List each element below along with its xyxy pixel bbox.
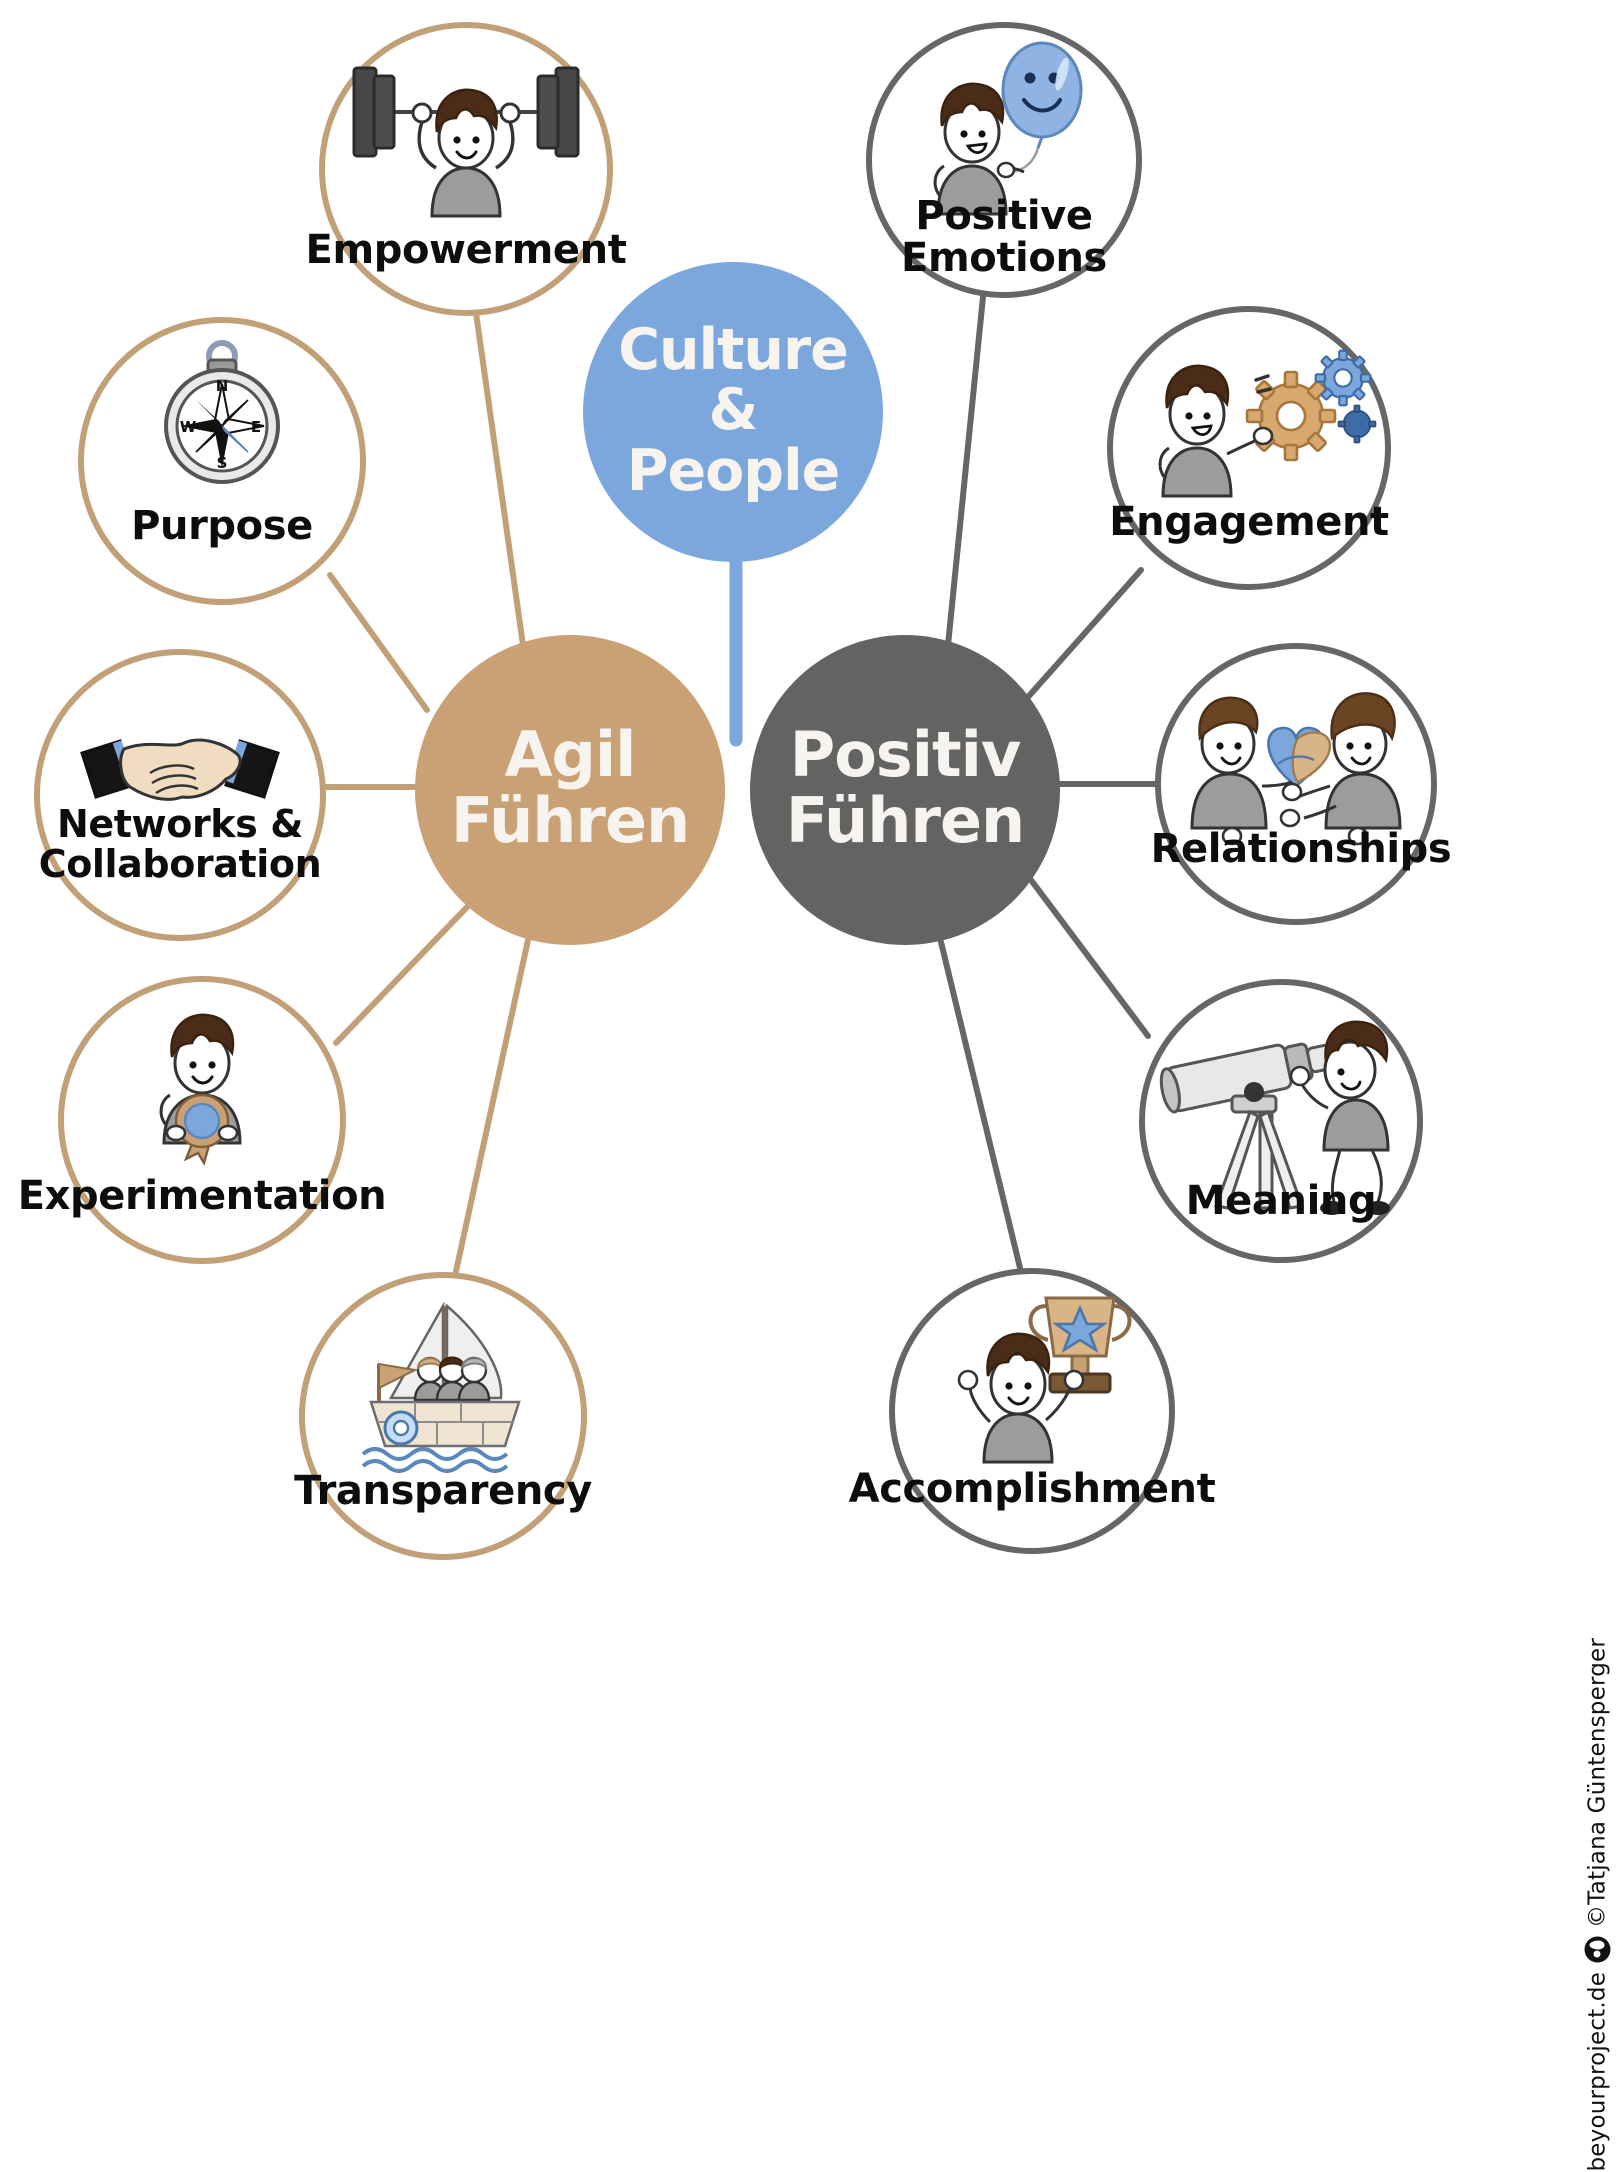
credit-site: beyourproject.de bbox=[1584, 1972, 1610, 2172]
diagram-canvas: N S E W bbox=[0, 0, 1616, 1652]
connector-agile-transparency bbox=[455, 940, 528, 1276]
credit-watermark: beyourproject.de ©Tatjana Güntensperger bbox=[1584, 1638, 1610, 2172]
hub-label-positive: Positiv Führen bbox=[755, 722, 1055, 853]
node-ring-positive-emotions[interactable] bbox=[869, 25, 1139, 295]
person-badge-icon bbox=[1584, 1937, 1610, 1963]
svg-text:E: E bbox=[251, 418, 261, 436]
connector-agile-experimentation bbox=[336, 904, 470, 1043]
connector-positive-accomplishment bbox=[941, 942, 1021, 1272]
credit-copyright: ©Tatjana Güntensperger bbox=[1584, 1638, 1610, 1928]
hub-label-culture: Culture & People bbox=[583, 320, 883, 501]
svg-text:S: S bbox=[217, 454, 228, 472]
connector-positive-emotions bbox=[948, 297, 983, 645]
connector-positive-engagement bbox=[1020, 570, 1141, 706]
connector-agile-empowerment bbox=[476, 313, 523, 645]
hub-label-agile: Agil Führen bbox=[420, 722, 720, 853]
connector-positive-meaning bbox=[1028, 876, 1148, 1036]
connector-agile-purpose bbox=[330, 575, 427, 710]
svg-text:N: N bbox=[216, 377, 229, 395]
svg-text:W: W bbox=[180, 418, 197, 436]
handshake-icon bbox=[82, 740, 278, 799]
